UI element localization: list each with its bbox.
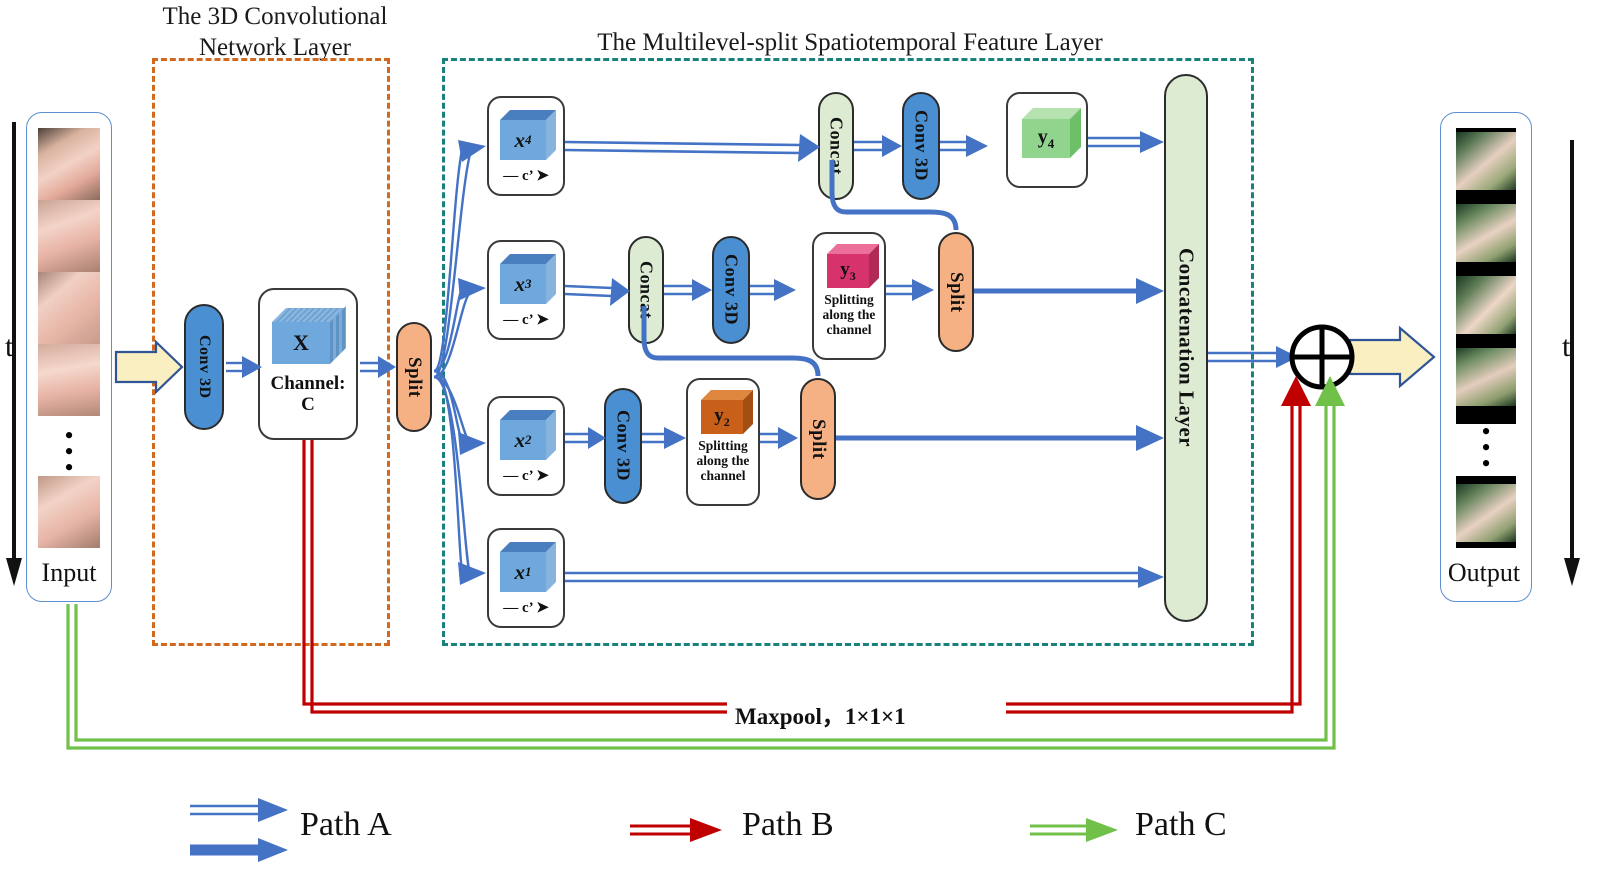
y3-caption: Splitting along the channel — [812, 292, 886, 337]
diagram-canvas: The 3D Convolutional Network Layer The M… — [0, 0, 1600, 877]
x4-cube: x4 — [500, 110, 546, 160]
legend-label-path-a: Path A — [300, 806, 392, 844]
legend-arrow-path-b — [630, 818, 722, 842]
x3-cube-front: x3 — [500, 264, 546, 304]
output-frame-2 — [1456, 204, 1516, 262]
input-frame-2 — [38, 200, 100, 272]
big-arrow-sum-to-output — [1350, 328, 1434, 386]
concat-label-x4: Concat — [826, 117, 847, 175]
output-ellipsis: •••• — [1456, 424, 1516, 476]
maxpool-label: Maxpool，1×1×1 — [727, 697, 914, 731]
input-frame-3 — [38, 272, 100, 344]
output-time-axis-label: t — [1562, 330, 1570, 364]
output-frame-1 — [1456, 132, 1516, 190]
y4-label: y — [1038, 126, 1048, 148]
conv3d-label-main: Conv 3D — [195, 335, 213, 399]
legend-label-path-b: Path B — [742, 806, 834, 844]
concat-block-x4[interactable]: Concat — [818, 92, 854, 200]
legend-arrow-path-a-thick — [190, 838, 288, 862]
x1-c-footer: — c’ ➤ — [487, 598, 565, 617]
title-mssf-layer: The Multilevel-split Spatiotemporal Feat… — [440, 28, 1260, 59]
y2-caption-line3: channel — [686, 468, 760, 483]
conv3d-label-x3: Conv 3D — [721, 254, 742, 325]
x4-sub: 4 — [525, 132, 532, 148]
channel-caption-line1: Channel: — [258, 374, 358, 395]
concatenation-layer-block[interactable]: Concatenation Layer — [1164, 74, 1208, 622]
x-cube-front: X — [272, 322, 330, 364]
path-c-arrowhead — [1315, 376, 1345, 406]
split-label-x2: Split — [807, 419, 829, 460]
conv3d-block-main[interactable]: Conv 3D — [184, 304, 224, 430]
output-label: Output — [1424, 558, 1544, 588]
concat-block-x3[interactable]: Concat — [628, 236, 664, 344]
x3-cube: x3 — [500, 254, 546, 304]
y2-label: y — [714, 405, 724, 426]
y3-label: y — [840, 259, 850, 280]
legend-arrow-path-a-thin — [190, 798, 288, 822]
y2-cube: y2 — [701, 390, 743, 434]
concat-label-x3: Concat — [636, 261, 657, 319]
input-frame-4 — [38, 344, 100, 416]
output-frame-4 — [1456, 348, 1516, 406]
y2-cube-front: y2 — [701, 400, 743, 434]
channel-caption-line2: C — [258, 395, 358, 416]
y2-caption-line2: along the — [686, 453, 760, 468]
sum-node — [1292, 327, 1352, 387]
x3-label: x — [515, 272, 526, 297]
y4-cube: y4 — [1022, 108, 1070, 158]
split-block-x2[interactable]: Split — [800, 378, 836, 500]
x3-c-footer: — c’ ➤ — [487, 310, 565, 329]
y3-cube: y3 — [827, 244, 869, 288]
legend-arrow-path-c — [1030, 818, 1118, 842]
conv3d-block-x2[interactable]: Conv 3D — [604, 388, 642, 504]
split-block-x3[interactable]: Split — [938, 232, 974, 352]
x2-label: x — [515, 428, 526, 453]
x2-c-footer: — c’ ➤ — [487, 466, 565, 485]
y3-cube-front: y3 — [827, 254, 869, 288]
y4-sub: 4 — [1048, 136, 1055, 151]
x1-sub: 1 — [525, 564, 532, 580]
output-frame-last — [1456, 484, 1516, 542]
x2-cube: x2 — [500, 410, 546, 460]
output-frame-3 — [1456, 276, 1516, 334]
conv3d-label-x2: Conv 3D — [613, 410, 634, 481]
input-filmstrip: •••• — [38, 128, 100, 548]
split-label-main: Split — [403, 357, 425, 398]
x3-sub: 3 — [525, 276, 532, 292]
x1-cube: x1 — [500, 542, 546, 592]
y2-caption-line1: Splitting — [686, 438, 760, 453]
input-frame-last — [38, 476, 100, 548]
y3-caption-line3: channel — [812, 322, 886, 337]
input-frame-1 — [38, 128, 100, 200]
x-cube: X — [272, 308, 330, 364]
y4-cube-front: y4 — [1022, 119, 1070, 158]
concatenation-layer-label: Concatenation Layer — [1174, 248, 1199, 447]
input-label: Input — [26, 558, 112, 588]
conv3d-block-x4[interactable]: Conv 3D — [902, 92, 940, 200]
x1-label: x — [515, 560, 526, 585]
y2-sub: 2 — [724, 414, 730, 428]
x4-label: x — [515, 128, 526, 153]
split-label-x3: Split — [945, 272, 967, 313]
y2-caption: Splitting along the channel — [686, 438, 760, 483]
x-channel-caption: Channel: C — [258, 374, 358, 415]
conv3d-label-x4: Conv 3D — [911, 110, 932, 181]
x4-c-footer: — c’ ➤ — [487, 166, 565, 185]
y3-sub: 3 — [850, 268, 856, 282]
x2-sub: 2 — [525, 432, 532, 448]
input-time-axis-label: t — [5, 330, 13, 364]
output-filmstrip: •••• — [1456, 128, 1516, 548]
path-b-arrowhead — [1281, 376, 1311, 406]
title-3d-conv-line1: The 3D Convolutional — [140, 2, 410, 33]
split-block-main[interactable]: Split — [396, 322, 432, 432]
x2-cube-front: x2 — [500, 420, 546, 460]
x4-cube-front: x4 — [500, 120, 546, 160]
y3-caption-line1: Splitting — [812, 292, 886, 307]
legend-label-path-c: Path C — [1135, 806, 1227, 844]
x-cube-label: X — [293, 330, 309, 356]
title-3d-conv-layer: The 3D Convolutional Network Layer — [140, 2, 410, 63]
conv3d-block-x3[interactable]: Conv 3D — [712, 236, 750, 344]
y3-caption-line2: along the — [812, 307, 886, 322]
x1-cube-front: x1 — [500, 552, 546, 592]
